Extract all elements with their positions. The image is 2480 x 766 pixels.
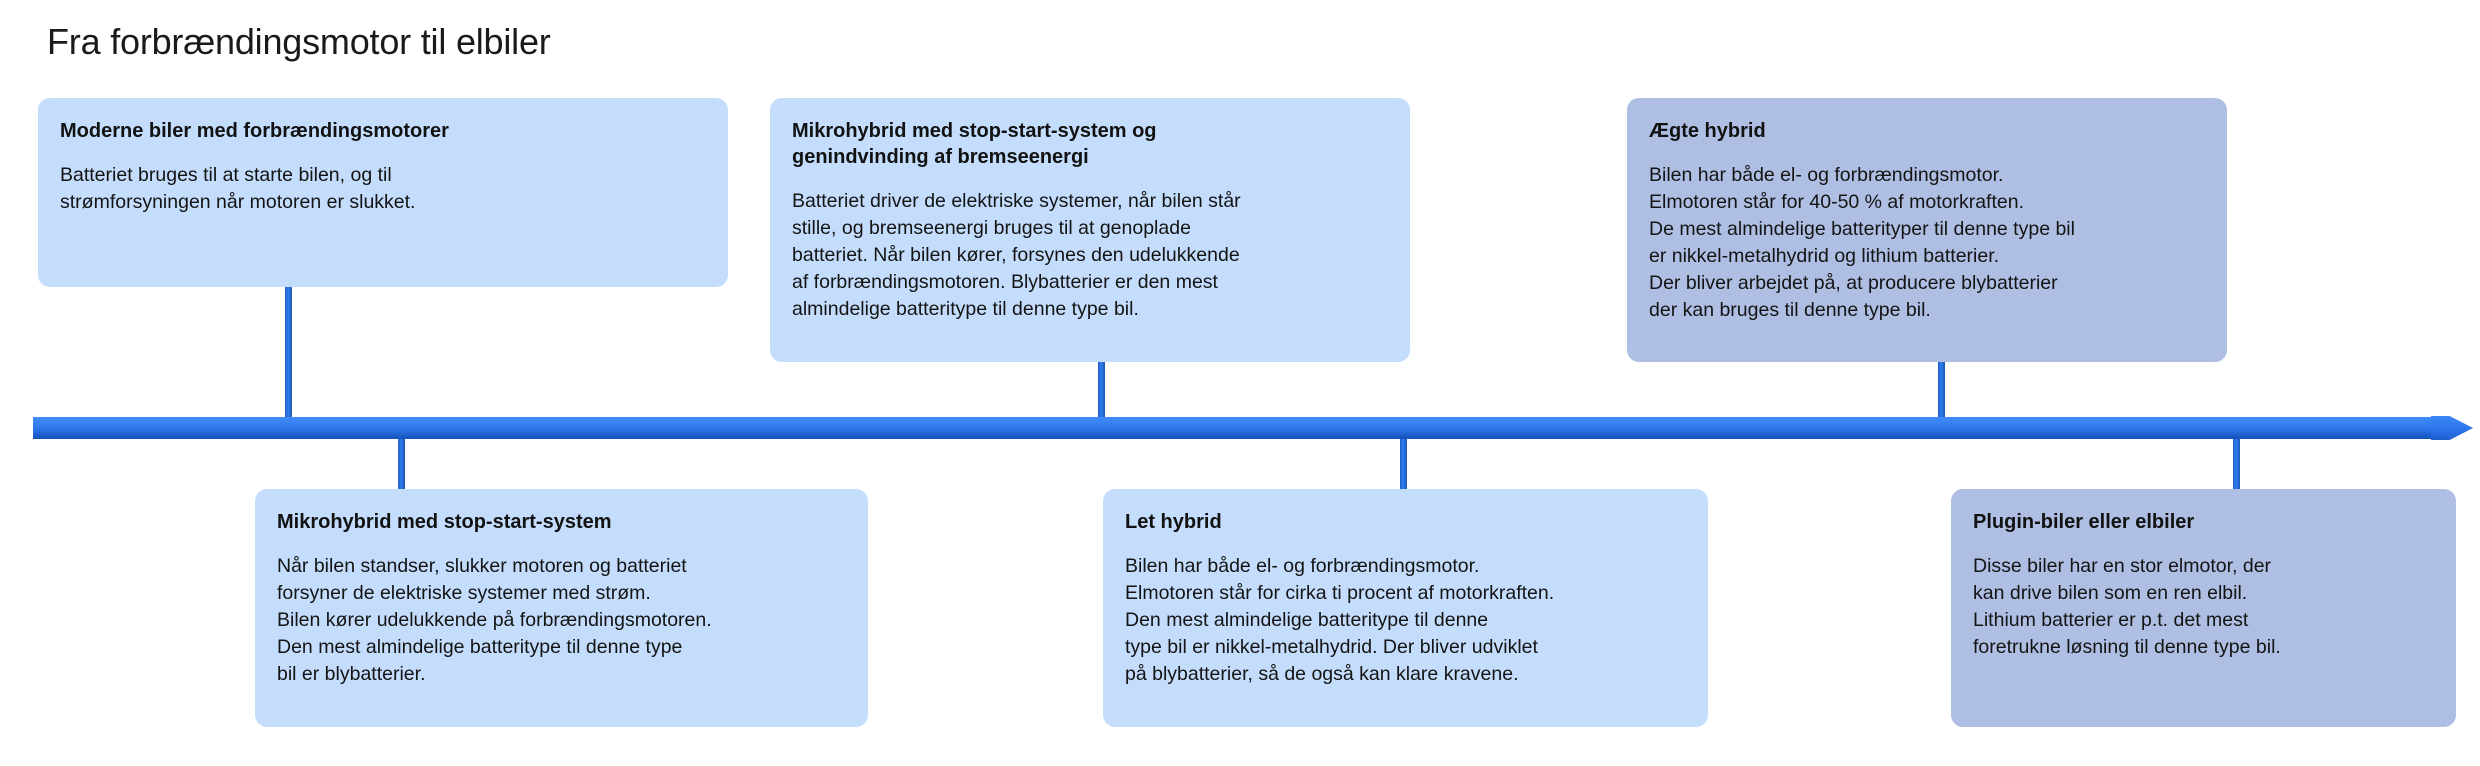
- connector-moderne-biler: [285, 287, 292, 419]
- connector-aegte-hybrid: [1938, 362, 1945, 419]
- card-aegte-hybrid[interactable]: Ægte hybrid Bilen har både el- og forbræ…: [1627, 98, 2227, 362]
- card-mikrohybrid-stop-start-title: Mikrohybrid med stop-start-system: [277, 509, 846, 535]
- card-moderne-biler-title: Moderne biler med forbrændingsmotorer: [60, 118, 706, 144]
- card-mikrohybrid-stop-start[interactable]: Mikrohybrid med stop-start-system Når bi…: [255, 489, 868, 727]
- page-title: Fra forbrændingsmotor til elbiler: [47, 20, 551, 64]
- card-mikrohybrid-bremseenergi-title: Mikrohybrid med stop-start-system og gen…: [792, 118, 1388, 170]
- card-plugin-elbiler-body: Disse biler har en stor elmotor, der kan…: [1973, 553, 2434, 661]
- card-moderne-biler-body: Batteriet bruges til at starte bilen, og…: [60, 162, 706, 216]
- card-mikrohybrid-bremseenergi-body: Batteriet driver de elektriske systemer,…: [792, 188, 1388, 323]
- card-aegte-hybrid-body: Bilen har både el- og forbrændingsmotor.…: [1649, 162, 2205, 324]
- connector-mikrohybrid-stop-start: [398, 437, 405, 489]
- card-plugin-elbiler-title: Plugin-biler eller elbiler: [1973, 509, 2434, 535]
- connector-mikrohybrid-bremseenergi: [1098, 362, 1105, 419]
- card-plugin-elbiler[interactable]: Plugin-biler eller elbiler Disse biler h…: [1951, 489, 2456, 727]
- connector-plugin-elbiler: [2233, 437, 2240, 489]
- connector-let-hybrid: [1400, 437, 1407, 489]
- card-mikrohybrid-bremseenergi[interactable]: Mikrohybrid med stop-start-system og gen…: [770, 98, 1410, 362]
- card-moderne-biler[interactable]: Moderne biler med forbrændingsmotorer Ba…: [38, 98, 728, 287]
- diagram-canvas: Fra forbrændingsmotor til elbiler Modern…: [0, 0, 2480, 766]
- card-mikrohybrid-stop-start-body: Når bilen standser, slukker motoren og b…: [277, 553, 846, 688]
- timeline-arrow: [33, 416, 2473, 440]
- card-let-hybrid[interactable]: Let hybrid Bilen har både el- og forbræn…: [1103, 489, 1708, 727]
- card-let-hybrid-body: Bilen har både el- og forbrændingsmotor.…: [1125, 553, 1686, 688]
- card-let-hybrid-title: Let hybrid: [1125, 509, 1686, 535]
- card-aegte-hybrid-title: Ægte hybrid: [1649, 118, 2205, 144]
